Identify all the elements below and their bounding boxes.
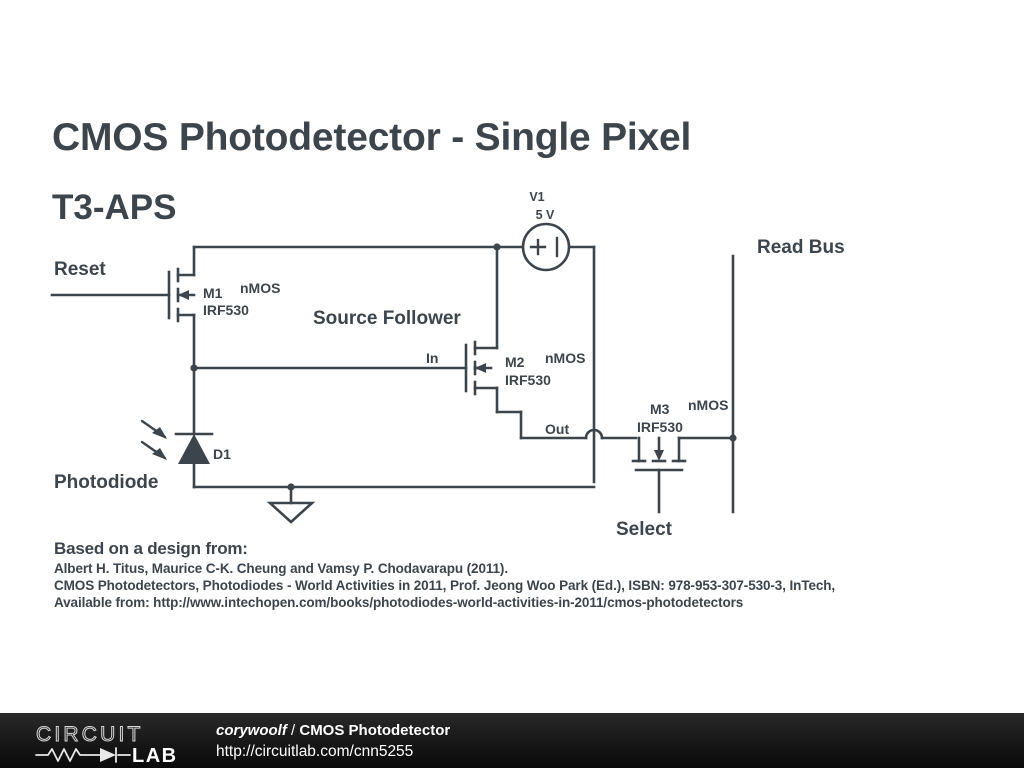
d1-triangle [178, 434, 210, 464]
footer-separator: / [287, 722, 300, 739]
logo-resistor-icon [36, 749, 100, 761]
m1-kind-label: nMOS [240, 280, 280, 296]
m3-kind-label: nMOS [688, 397, 728, 413]
attribution-line-2: CMOS Photodetectors, Photodiodes - World… [54, 577, 984, 594]
m2-model-label: IRF530 [505, 372, 551, 388]
label-select: Select [616, 519, 673, 540]
circuitlab-logo[interactable]: CIRCUIT LAB [34, 721, 199, 763]
footer-bar: CIRCUIT LAB corywoolf / CMOS Photodetect… [0, 713, 1024, 768]
label-read-bus: Read Bus [757, 237, 845, 258]
footer-url[interactable]: http://circuitlab.com/cnn5255 [216, 743, 413, 761]
attribution-heading: Based on a design from: [54, 539, 984, 559]
v1-value-label: 5 V [536, 208, 555, 222]
junction-dot-ground [287, 483, 294, 490]
m1-ref-label: M1 [203, 285, 223, 301]
m3-arrow-head [654, 450, 664, 461]
label-reset: Reset [54, 259, 106, 280]
m1-model-label: IRF530 [203, 302, 249, 318]
attribution-block: Based on a design from: Albert H. Titus,… [54, 539, 984, 611]
ground-symbol [270, 503, 312, 522]
junction-dot-top-rail [493, 243, 500, 250]
label-in: In [426, 350, 438, 366]
footer-username[interactable]: corywoolf [216, 722, 287, 739]
footer-project-name: CMOS Photodetector [299, 722, 450, 739]
junction-dot-pd-node [190, 364, 197, 371]
label-out: Out [545, 421, 569, 437]
m2-ref-label: M2 [505, 354, 525, 370]
m1-arrow-head [178, 290, 189, 300]
label-source-follower: Source Follower [313, 308, 461, 329]
logo-lab-text: LAB [132, 745, 178, 763]
logo-circuit-text: CIRCUIT [36, 723, 144, 746]
m2-arrow-head [475, 363, 486, 373]
slide-canvas: CMOS Photodetector - Single Pixel T3-APS [0, 0, 1024, 713]
m3-ref-label: M3 [650, 401, 670, 417]
label-photodiode: Photodiode [54, 472, 158, 493]
attribution-line-3: Available from: http://www.intechopen.co… [54, 594, 984, 611]
footer-project-line: corywoolf / CMOS Photodetector [216, 722, 450, 739]
m3-model-label: IRF530 [637, 419, 683, 435]
m2-kind-label: nMOS [545, 350, 585, 366]
v1-ref-label: V1 [529, 190, 544, 204]
logo-diode-icon [100, 748, 116, 762]
attribution-line-1: Albert H. Titus, Maurice C-K. Cheung and… [54, 560, 984, 577]
d1-ref-label: D1 [213, 446, 231, 462]
